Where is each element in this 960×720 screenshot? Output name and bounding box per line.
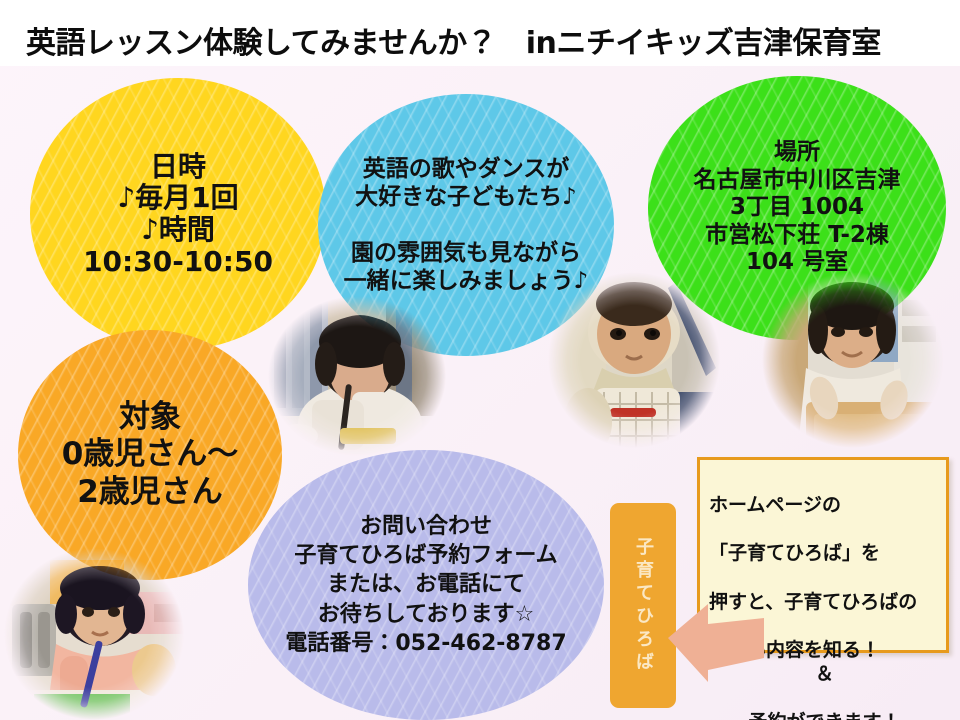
info-circle-contact: お問い合わせ 子育てひろば予約フォーム または、お電話にて お待ちしております☆… <box>248 450 604 720</box>
callout-line-2: 「子育てひろば」を <box>709 542 880 564</box>
photo-toddler-at-table <box>762 272 944 448</box>
photo-baby-in-chair-mask <box>548 272 720 448</box>
info-circle-place-text: 場所 名古屋市中川区吉津 3丁目 1004 市営松下荘 T-2棟 104 号室 <box>694 139 901 277</box>
photo-child-coloring-mask <box>4 548 184 720</box>
page-title: 英語レッスン体験してみませんか？ inニチイキッズ吉津保育室 <box>26 18 881 62</box>
hiroba-tab-button-label: 子育てひろば <box>634 537 652 675</box>
info-circle-target-age-text: 対象 0歳児さん〜 2歳児さん <box>62 399 239 511</box>
info-circle-datetime-text: 日時 ♪毎月1回 ♪時間 10:30-10:50 <box>83 151 273 278</box>
callout-line-6: 予約ができます！ <box>709 710 940 720</box>
photo-baby-in-chair <box>548 272 720 448</box>
arrow-left-icon <box>664 598 768 684</box>
photo-toddler-at-table-mask <box>762 272 944 448</box>
photo-drawing-child-mask <box>268 296 446 456</box>
info-circle-target-age: 対象 0歳児さん〜 2歳児さん <box>18 330 282 580</box>
photo-drawing-child <box>268 296 446 456</box>
callout-line-1: ホームページの <box>709 494 841 516</box>
info-circle-contact-text: お問い合わせ 子育てひろば予約フォーム または、お電話にて お待ちしております☆… <box>285 512 566 657</box>
poster-canvas: 英語レッスン体験してみませんか？ inニチイキッズ吉津保育室 日時 ♪毎月1回 … <box>0 0 960 720</box>
photo-child-coloring <box>4 548 184 720</box>
